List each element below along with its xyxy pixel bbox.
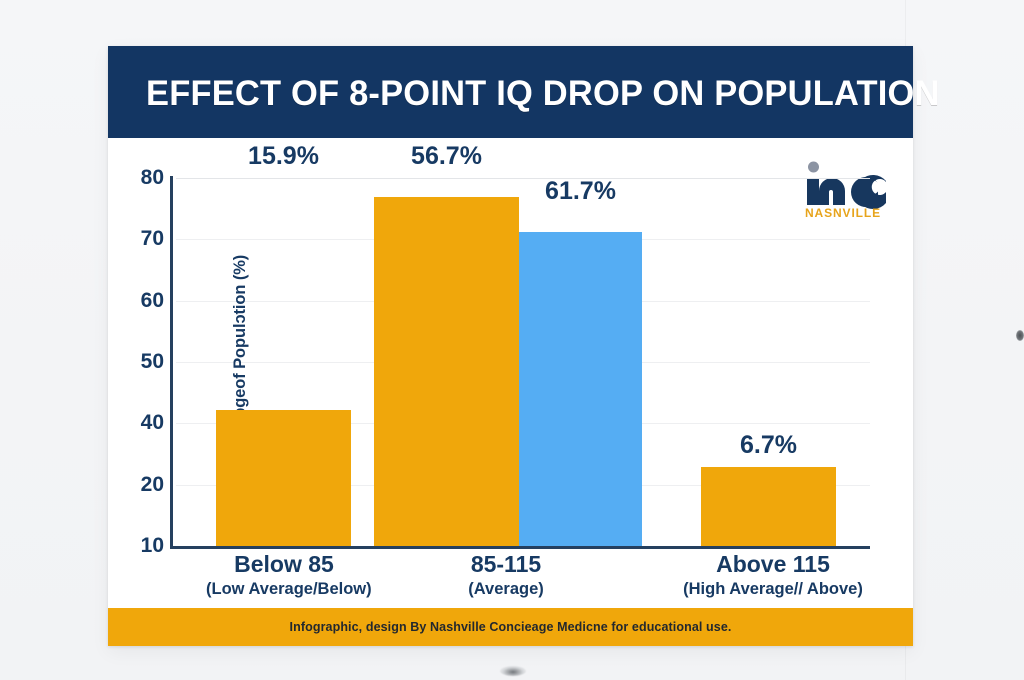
category-label: Below 85	[206, 550, 362, 578]
bar-value-85-115-blue: 61.7%	[519, 177, 642, 206]
bar-above-115[interactable]	[701, 467, 836, 546]
category-above-115: Above 115 (High Average// Above)	[678, 550, 868, 600]
image-artifact-speck-right	[1016, 330, 1024, 341]
bar-value-above-115: 6.7%	[701, 431, 836, 460]
footer-band: Infographic, design By Nashville Conciea…	[108, 608, 913, 646]
x-axis-categories: Below 85 (Low Average/Below) 85-115 (Ave…	[170, 550, 870, 608]
category-sublabel: (Average)	[428, 578, 584, 600]
y-axis-ticks: 80 70 60 50 40 20 10	[116, 178, 164, 548]
y-axis-line	[170, 176, 173, 546]
y-tick-label: 50	[118, 350, 164, 374]
header-band: EFFECT OF 8-POINT IQ DROP ON POPULATION	[108, 46, 913, 138]
y-tick-label: 80	[118, 166, 164, 190]
bar-85-115-orange[interactable]	[374, 197, 519, 546]
bar-85-115-blue[interactable]	[519, 232, 642, 546]
page-background: EFFECT OF 8-POINT IQ DROP ON POPULATION …	[0, 0, 1024, 680]
chart-area: NASNVILLE 80 70 60 50 40	[108, 138, 913, 608]
image-artifact-speck-bottom	[500, 666, 526, 676]
category-85-115: 85-115 (Average)	[428, 550, 584, 600]
y-tick-label: 10	[118, 534, 164, 558]
category-sublabel: (Low Average/Below)	[206, 578, 362, 600]
bar-value-below-85: 15.9%	[216, 142, 351, 171]
infographic-card: EFFECT OF 8-POINT IQ DROP ON POPULATION …	[108, 46, 913, 646]
category-label: Above 115	[678, 550, 868, 578]
x-axis-line	[170, 546, 870, 549]
bar-value-85-115-orange: 56.7%	[374, 142, 519, 171]
category-sublabel: (High Average// Above)	[678, 578, 868, 600]
y-tick-label: 70	[118, 227, 164, 251]
y-tick-label: 20	[118, 473, 164, 497]
footer-credit-text: Infographic, design By Nashville Conciea…	[290, 620, 732, 634]
category-below-85: Below 85 (Low Average/Below)	[206, 550, 362, 600]
y-tick-label: 40	[118, 411, 164, 435]
plot-area: 80 70 60 50 40 20 10 Perceɳɒgeof Populɔt…	[170, 178, 870, 546]
page-title: EFFECT OF 8-POINT IQ DROP ON POPULATION	[146, 74, 940, 114]
bar-below-85[interactable]	[216, 410, 351, 546]
category-label: 85-115	[428, 550, 584, 578]
y-tick-label: 60	[118, 289, 164, 313]
